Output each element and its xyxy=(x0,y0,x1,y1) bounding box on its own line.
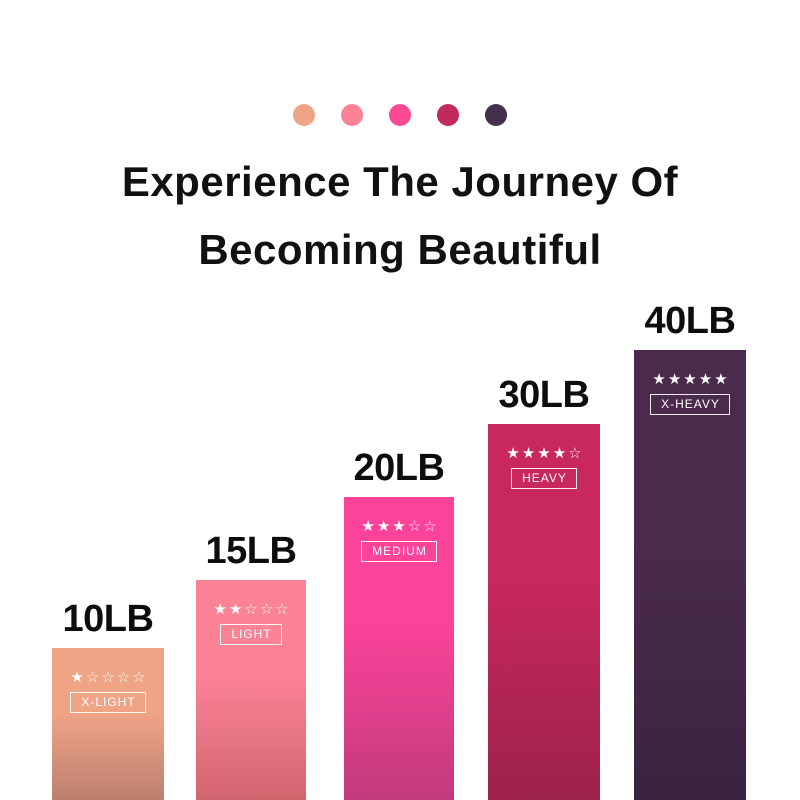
star-empty-icon: ☆ xyxy=(568,446,581,461)
star-empty-icon: ☆ xyxy=(423,519,436,534)
star-filled-icon: ★ xyxy=(70,670,83,685)
star-filled-icon: ★ xyxy=(668,372,681,387)
star-empty-icon: ☆ xyxy=(101,670,114,685)
bar-badge: ★★★★☆HEAVY xyxy=(488,446,600,489)
star-rating: ★★★★☆ xyxy=(506,446,581,461)
star-filled-icon: ★ xyxy=(392,519,405,534)
bar-fill: ★★★★☆HEAVY xyxy=(488,424,600,800)
bar-badge: ★★★★★X-HEAVY xyxy=(634,372,746,415)
bar-fill: ★★☆☆☆LIGHT xyxy=(196,580,306,800)
bar-group-40lb[interactable]: 40LB★★★★★X-HEAVY xyxy=(634,350,746,800)
bar-value-label: 40LB xyxy=(645,302,736,350)
star-empty-icon: ☆ xyxy=(132,670,145,685)
bar-group-20lb[interactable]: 20LB★★★☆☆MEDIUM xyxy=(344,497,454,800)
star-empty-icon: ☆ xyxy=(408,519,421,534)
bar-group-10lb[interactable]: 10LB★☆☆☆☆X-LIGHT xyxy=(52,648,164,800)
star-empty-icon: ☆ xyxy=(275,602,288,617)
star-filled-icon: ★ xyxy=(213,602,226,617)
star-filled-icon: ★ xyxy=(553,446,566,461)
star-rating: ★☆☆☆☆ xyxy=(70,670,145,685)
bar-group-15lb[interactable]: 15LB★★☆☆☆LIGHT xyxy=(196,580,306,800)
level-tag: HEAVY xyxy=(511,468,577,489)
level-tag: X-HEAVY xyxy=(650,394,730,415)
bar-badge: ★☆☆☆☆X-LIGHT xyxy=(52,670,164,713)
star-empty-icon: ☆ xyxy=(244,602,257,617)
level-tag: X-LIGHT xyxy=(70,692,145,713)
star-filled-icon: ★ xyxy=(229,602,242,617)
bar-fill: ★☆☆☆☆X-LIGHT xyxy=(52,648,164,800)
star-filled-icon: ★ xyxy=(377,519,390,534)
bar-fill: ★★★☆☆MEDIUM xyxy=(344,497,454,800)
resistance-band-bar-chart: 10LB★☆☆☆☆X-LIGHT15LB★★☆☆☆LIGHT20LB★★★☆☆M… xyxy=(0,0,800,800)
level-tag: LIGHT xyxy=(220,624,281,645)
bar-value-label: 30LB xyxy=(499,376,590,424)
bar-value-label: 15LB xyxy=(206,532,297,580)
level-tag: MEDIUM xyxy=(361,541,437,562)
star-filled-icon: ★ xyxy=(683,372,696,387)
star-filled-icon: ★ xyxy=(537,446,550,461)
star-filled-icon: ★ xyxy=(361,519,374,534)
star-rating: ★★★★★ xyxy=(652,372,727,387)
bar-badge: ★★★☆☆MEDIUM xyxy=(344,519,454,562)
bar-value-label: 10LB xyxy=(63,600,154,648)
star-rating: ★★★☆☆ xyxy=(361,519,436,534)
star-filled-icon: ★ xyxy=(522,446,535,461)
star-rating: ★★☆☆☆ xyxy=(213,602,288,617)
star-filled-icon: ★ xyxy=(714,372,727,387)
bar-badge: ★★☆☆☆LIGHT xyxy=(196,602,306,645)
bar-fill: ★★★★★X-HEAVY xyxy=(634,350,746,800)
bar-group-30lb[interactable]: 30LB★★★★☆HEAVY xyxy=(488,424,600,800)
star-filled-icon: ★ xyxy=(699,372,712,387)
star-empty-icon: ☆ xyxy=(86,670,99,685)
star-empty-icon: ☆ xyxy=(117,670,130,685)
star-filled-icon: ★ xyxy=(506,446,519,461)
star-empty-icon: ☆ xyxy=(260,602,273,617)
bar-value-label: 20LB xyxy=(354,449,445,497)
star-filled-icon: ★ xyxy=(652,372,665,387)
